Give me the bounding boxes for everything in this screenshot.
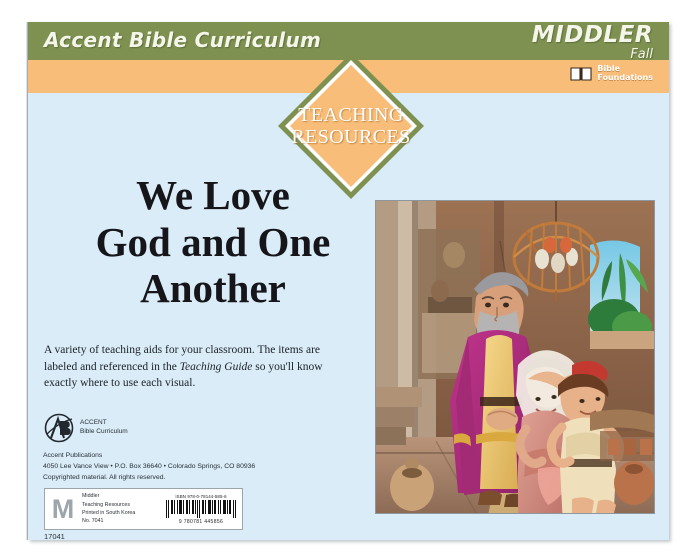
publisher-logo-text: ACCENT Bible Curriculum <box>80 419 128 437</box>
publisher-name: Accent Publications <box>43 450 255 461</box>
title-line-2: God and One <box>48 219 378 266</box>
description-emphasis: Teaching Guide <box>180 361 253 373</box>
barcode-line-2: Teaching Resources <box>82 501 135 509</box>
logo-line-2: Bible Curriculum <box>80 428 128 437</box>
page-title: We Love God and One Another <box>48 172 378 312</box>
barcode-bars-icon <box>164 500 238 518</box>
barcode-info-text: Middler Teaching Resources Printed in So… <box>82 492 135 525</box>
publisher-address: 4050 Lee Vance View • P.O. Box 36640 • C… <box>43 461 255 472</box>
age-level-label: MIDDLER <box>532 24 653 47</box>
item-number: 17041 <box>44 532 65 540</box>
barcode-line-1: Middler <box>82 492 135 500</box>
accent-logo-icon <box>43 412 75 444</box>
illustration-artwork <box>376 201 654 513</box>
title-line-3: Another <box>48 265 378 312</box>
bible-foundations-badge: Bible Foundations <box>570 65 653 83</box>
barcode-block: M Middler Teaching Resources Printed in … <box>44 488 243 530</box>
cover-page: Accent Bible Curriculum MIDDLER Fall Bib… <box>0 0 700 559</box>
barcode-line-3: Printed in South Korea <box>82 509 135 517</box>
level-initial: M <box>48 496 78 523</box>
barcode-right-group: ISBN 978-0-78144-585-6 <box>164 494 238 525</box>
age-level-group: MIDDLER Fall <box>532 24 653 61</box>
barcode-digits: 9 780781 445856 <box>164 519 238 525</box>
foundations-line-2: Foundations <box>597 74 653 83</box>
publisher-logo-group: ACCENT Bible Curriculum <box>43 412 128 444</box>
isbn-text: ISBN 978-0-78144-585-6 <box>164 494 238 499</box>
term-label: Fall <box>532 48 653 61</box>
badge-line-2: RESOURCES <box>291 127 410 147</box>
logo-line-1: ACCENT <box>80 419 128 428</box>
bible-foundations-text: Bible Foundations <box>597 65 653 83</box>
copyright-notice: Copyrighted material. All rights reserve… <box>43 472 255 483</box>
badge-line-1: TEACHING <box>298 105 403 125</box>
description-text: A variety of teaching aids for your clas… <box>44 342 344 392</box>
imprint-block: Accent Publications 4050 Lee Vance View … <box>43 450 255 483</box>
title-line-1: We Love <box>48 172 378 219</box>
barcode-line-4: No. 7041 <box>82 517 135 525</box>
bible-scene-illustration <box>375 200 655 514</box>
open-book-icon <box>570 66 592 81</box>
series-title: Accent Bible Curriculum <box>44 28 321 52</box>
book-cover: Accent Bible Curriculum MIDDLER Fall Bib… <box>28 22 669 540</box>
